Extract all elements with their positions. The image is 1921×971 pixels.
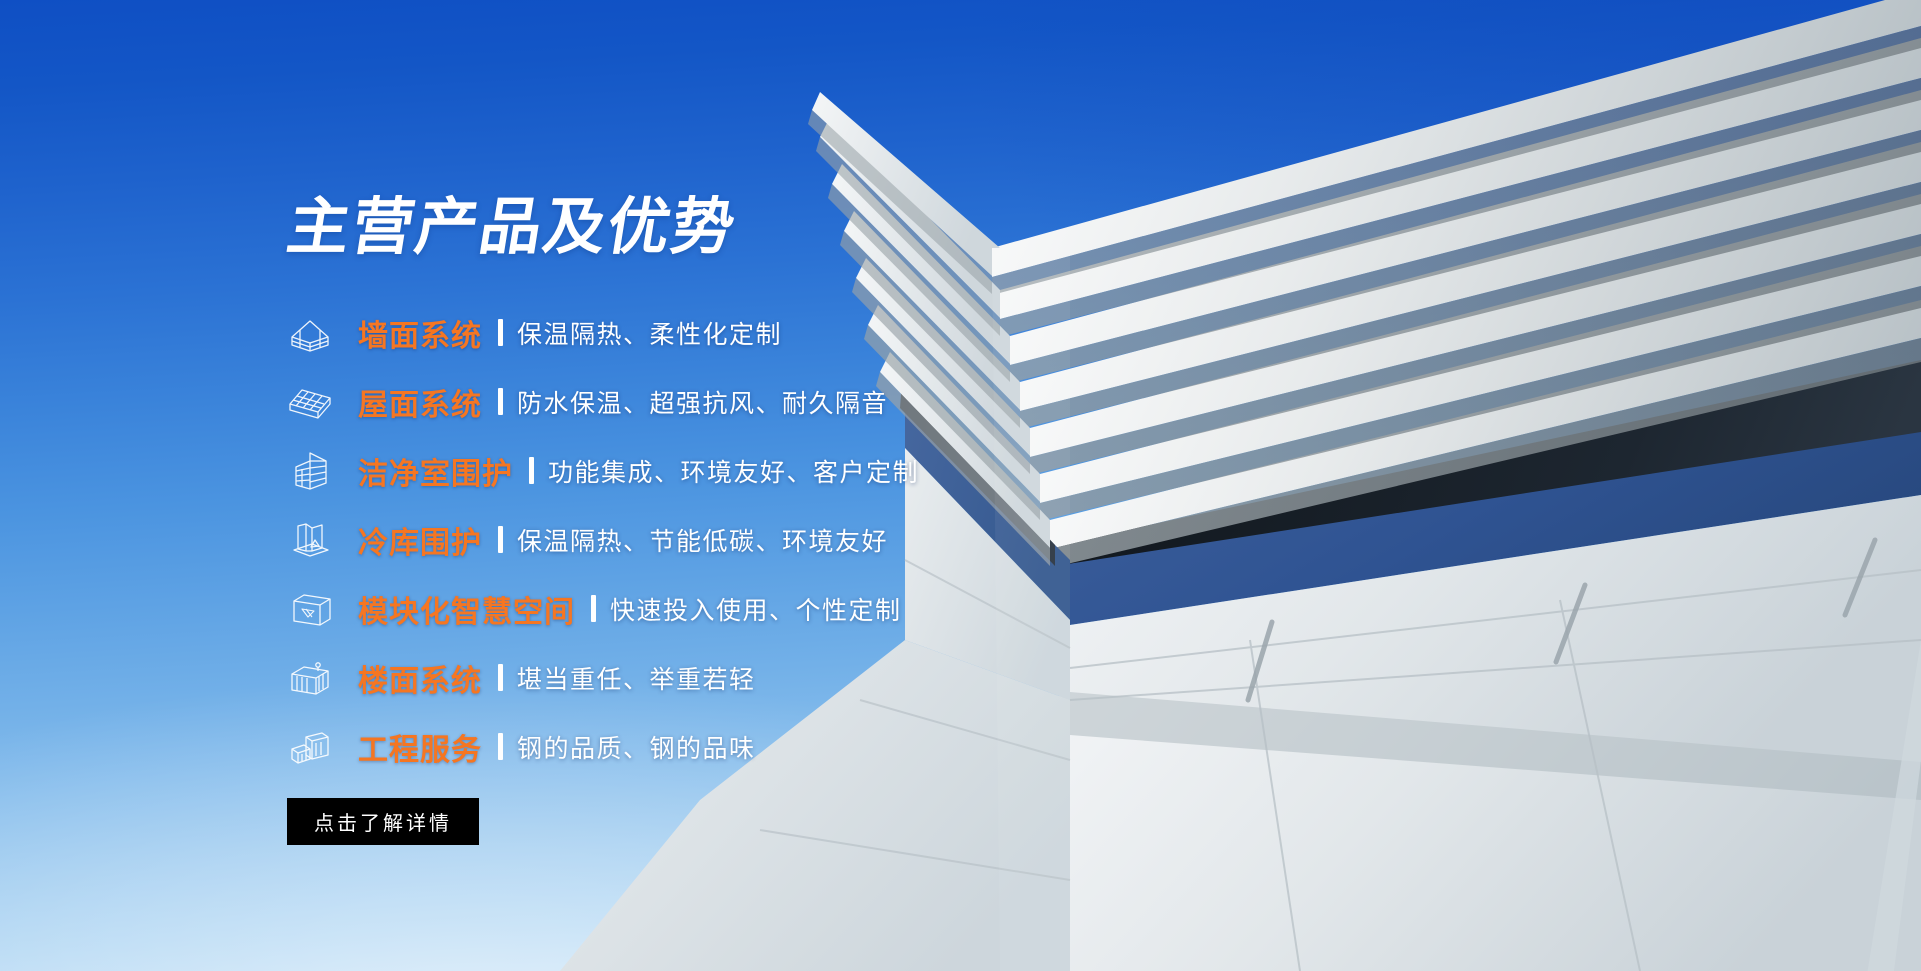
product-desc: 堪当重任、举重若轻 <box>517 660 756 696</box>
divider-bar <box>498 664 503 691</box>
product-name: 屋面系统 <box>358 380 482 424</box>
modular-space-icon <box>288 587 332 631</box>
product-desc: 保温隔热、节能低碳、环境友好 <box>517 522 888 558</box>
product-desc: 快速投入使用、个性定制 <box>610 591 902 627</box>
list-item[interactable]: 模块化智慧空间 快速投入使用、个性定制 <box>288 574 1108 643</box>
banner-stage: 主营产品及优势 墙面系统 保温隔热、柔性化 <box>0 0 1921 971</box>
product-name: 洁净室围护 <box>358 449 513 493</box>
divider-bar <box>529 457 534 484</box>
roof-system-icon <box>288 380 332 424</box>
wall-system-icon <box>288 311 332 355</box>
list-item[interactable]: 墙面系统 保温隔热、柔性化定制 <box>288 298 1108 367</box>
cold-storage-icon <box>288 518 332 562</box>
product-name: 楼面系统 <box>358 656 482 700</box>
divider-bar <box>498 388 503 415</box>
product-name: 工程服务 <box>358 725 482 769</box>
product-desc: 防水保温、超强抗风、耐久隔音 <box>517 384 888 420</box>
divider-bar <box>498 733 503 760</box>
list-item[interactable]: 工程服务 钢的品质、钢的品味 <box>288 712 1108 781</box>
list-item[interactable]: 洁净室围护 功能集成、环境友好、客户定制 <box>288 436 1108 505</box>
page-title: 主营产品及优势 <box>283 196 741 258</box>
product-name: 模块化智慧空间 <box>358 587 575 631</box>
list-item[interactable]: 屋面系统 防水保温、超强抗风、耐久隔音 <box>288 367 1108 436</box>
learn-more-button[interactable]: 点击了解详情 <box>287 798 479 845</box>
product-name: 冷库围护 <box>358 518 482 562</box>
product-desc: 钢的品质、钢的品味 <box>517 729 756 765</box>
content-panel: 主营产品及优势 墙面系统 保温隔热、柔性化 <box>0 0 1100 971</box>
list-item[interactable]: 冷库围护 保温隔热、节能低碳、环境友好 <box>288 505 1108 574</box>
product-name: 墙面系统 <box>358 311 482 355</box>
engineering-service-icon <box>288 725 332 769</box>
cleanroom-envelope-icon <box>288 449 332 493</box>
divider-bar <box>498 319 503 346</box>
divider-bar <box>591 595 596 622</box>
list-item[interactable]: 楼面系统 堪当重任、举重若轻 <box>288 643 1108 712</box>
product-desc: 保温隔热、柔性化定制 <box>517 315 782 351</box>
product-list: 墙面系统 保温隔热、柔性化定制 <box>288 298 1108 781</box>
floor-system-icon <box>288 656 332 700</box>
product-desc: 功能集成、环境友好、客户定制 <box>548 453 919 489</box>
divider-bar <box>498 526 503 553</box>
